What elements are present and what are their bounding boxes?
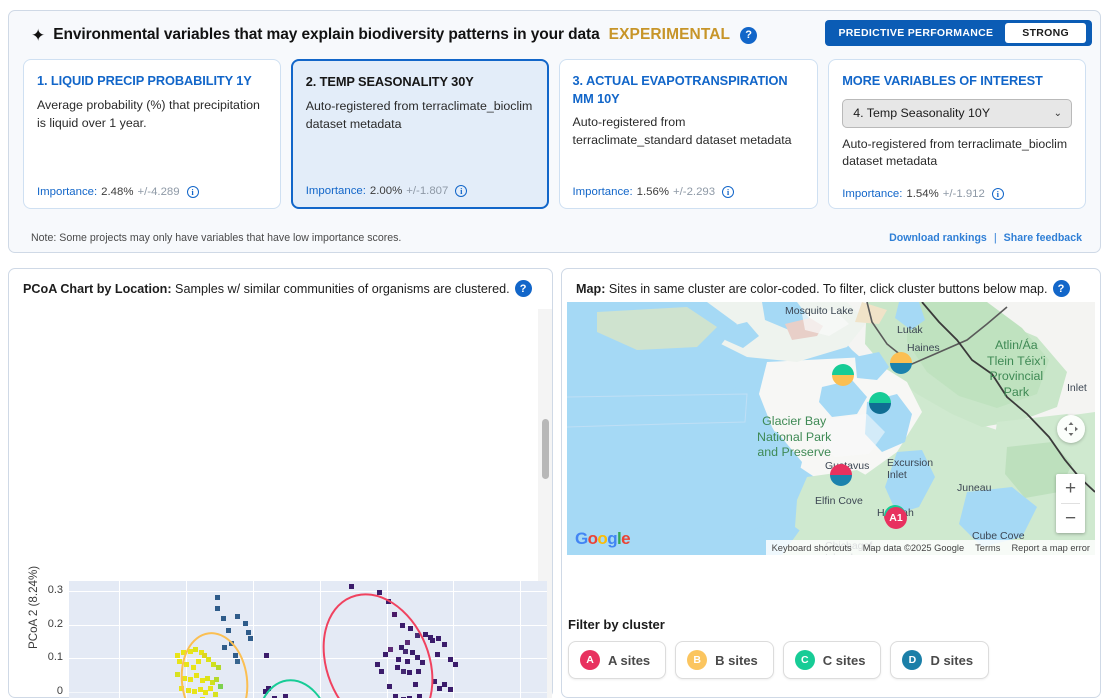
chevron-down-icon: ⌄ <box>1054 108 1062 119</box>
filter-button-d[interactable]: DD sites <box>890 641 989 679</box>
map-site-marker[interactable] <box>830 464 852 486</box>
map-title-bold: Map: <box>576 282 605 296</box>
scrollbar-thumb[interactable] <box>542 419 549 479</box>
filter-by-cluster-title: Filter by cluster <box>568 617 665 632</box>
gridline-vertical <box>253 581 254 698</box>
panel-footer: Note: Some projects may only have variab… <box>9 224 1100 252</box>
importance-error: +/-2.293 <box>673 186 715 198</box>
map-place-label: ExcursionInlet <box>887 457 933 481</box>
gridline-horizontal <box>69 591 547 592</box>
scatter-point[interactable] <box>435 652 440 657</box>
variable-card-2-title: 2. TEMP SEASONALITY 30Y <box>306 73 534 91</box>
map-help-icon[interactable]: ? <box>1053 280 1070 297</box>
panel-header: ✦ Environmental variables that may expla… <box>9 11 1100 59</box>
app-root: ✦ Environmental variables that may expla… <box>0 0 1109 698</box>
marker-top-half <box>832 364 854 375</box>
filter-button-c[interactable]: CC sites <box>783 641 882 679</box>
cluster-ellipse-c[interactable] <box>249 674 341 698</box>
cluster-filter-buttons: AA sitesBB sitesCC sitesDD sites <box>568 641 989 679</box>
importance-label: Importance: <box>37 186 97 198</box>
bottom-panels: PCoA Chart by Location: Samples w/ simil… <box>8 268 1101 698</box>
variable-card-3-importance: Importance: 1.56% +/-2.293 i <box>573 186 735 198</box>
variable-card-3-title: 3. ACTUAL EVAPOTRANSPIRATION MM 10Y <box>573 72 805 107</box>
filter-button-b[interactable]: BB sites <box>675 641 774 679</box>
google-logo: Google <box>575 529 630 549</box>
scatter-point[interactable] <box>215 606 220 611</box>
scatter-plot-area[interactable]: ABCD <box>69 581 547 698</box>
link-separator: | <box>994 232 997 244</box>
map-place-label: Mosquito Lake <box>785 305 853 317</box>
scatter-point[interactable] <box>175 672 180 677</box>
help-icon[interactable]: ? <box>740 27 757 44</box>
scatter-point[interactable] <box>235 614 240 619</box>
gridline-vertical <box>520 581 521 698</box>
gridline-vertical <box>119 581 120 698</box>
marker-bottom-half <box>832 375 854 386</box>
importance-error: +/-4.289 <box>137 186 179 198</box>
map-place-label: Atlin/ÁaTlein Téix'iProvincialPark <box>987 338 1046 400</box>
gridline-vertical <box>320 581 321 698</box>
scatter-point[interactable] <box>448 687 453 692</box>
variable-card-3-description: Auto-registered from terraclimate_standa… <box>573 114 805 150</box>
gridline-vertical <box>453 581 454 698</box>
variable-card-2-importance: Importance: 2.00% +/-1.807 i <box>306 185 468 197</box>
footer-note: Note: Some projects may only have variab… <box>31 232 401 244</box>
environmental-variables-panel: ✦ Environmental variables that may expla… <box>8 10 1101 253</box>
map-place-label: Lutak <box>897 324 923 336</box>
map-place-label: Juneau <box>957 482 991 494</box>
zoom-in-button[interactable]: + <box>1056 474 1085 503</box>
scatter-point[interactable] <box>442 682 447 687</box>
pcoa-panel: PCoA Chart by Location: Samples w/ simil… <box>8 268 553 698</box>
more-variables-description: Auto-registered from terraclimate_biocli… <box>842 136 1072 171</box>
gridline-horizontal <box>69 625 547 626</box>
scatter-point[interactable] <box>175 653 180 658</box>
importance-error: +/-1.807 <box>406 185 448 197</box>
more-variables-title: MORE VARIABLES OF INTEREST <box>842 72 1072 90</box>
y-axis-tick: 0.1 <box>23 651 63 663</box>
variable-card-1-importance: Importance: 2.48% +/-4.289 i <box>37 186 199 198</box>
variable-card-1-description: Average probability (%) that precipitati… <box>37 97 267 133</box>
map-site-marker[interactable] <box>890 352 912 374</box>
info-icon[interactable]: i <box>722 186 734 198</box>
google-map[interactable]: Mosquito LakeLutakHainesAtlin/ÁaTlein Té… <box>567 302 1095 555</box>
scatter-point[interactable] <box>221 616 226 621</box>
marker-bottom-half <box>869 403 891 414</box>
map-site-marker[interactable] <box>832 364 854 386</box>
marker-bottom-half <box>830 475 852 486</box>
map-pan-control[interactable] <box>1057 415 1085 443</box>
importance-value: 2.48% <box>101 186 133 198</box>
filter-dot-b: B <box>687 650 707 670</box>
more-variables-card: MORE VARIABLES OF INTEREST 4. Temp Seaso… <box>828 59 1086 209</box>
pcoa-title: PCoA Chart by Location: Samples w/ simil… <box>23 282 510 296</box>
performance-label: PREDICTIVE PERFORMANCE <box>839 27 994 39</box>
variable-select-value: 4. Temp Seasonality 10Y <box>853 106 990 120</box>
pcoa-header: PCoA Chart by Location: Samples w/ simil… <box>9 269 552 303</box>
keyboard-shortcuts-link[interactable]: Keyboard shortcuts <box>772 543 852 553</box>
performance-value: STRONG <box>1005 23 1086 43</box>
page-title: Environmental variables that may explain… <box>53 26 599 44</box>
info-icon[interactable]: i <box>455 185 467 197</box>
marker-top-half <box>890 352 912 363</box>
variable-card-2[interactable]: 2. TEMP SEASONALITY 30Y Auto-registered … <box>291 59 549 209</box>
y-axis-tick: 0 <box>23 685 63 697</box>
filter-dot-d: D <box>902 650 922 670</box>
scatter-point[interactable] <box>448 657 453 662</box>
map-attribution: Keyboard shortcuts Map data ©2025 Google… <box>766 540 1095 555</box>
map-title: Map: Sites in same cluster are color-cod… <box>576 282 1048 296</box>
scatter-point[interactable] <box>349 584 354 589</box>
pcoa-help-icon[interactable]: ? <box>515 280 532 297</box>
map-header: Map: Sites in same cluster are color-cod… <box>562 269 1100 303</box>
variable-select[interactable]: 4. Temp Seasonality 10Y ⌄ <box>842 99 1072 128</box>
scatter-point[interactable] <box>215 595 220 600</box>
map-title-rest: Sites in same cluster are color-coded. T… <box>605 282 1047 296</box>
pcoa-title-rest: Samples w/ similar communities of organi… <box>172 282 510 296</box>
importance-label: Importance: <box>573 186 633 198</box>
pan-arrows-icon <box>1063 421 1079 437</box>
importance-value: 1.56% <box>637 186 669 198</box>
map-data-text: Map data ©2025 Google <box>863 543 964 553</box>
map-site-marker[interactable] <box>869 392 891 414</box>
filter-button-label: B sites <box>715 653 758 668</box>
map-cluster-badge[interactable]: A1 <box>885 507 907 529</box>
y-axis-label: PCoA 2 (8.24%) <box>27 566 40 649</box>
download-rankings-link[interactable]: Download rankings <box>889 232 987 244</box>
cluster-ellipse-b[interactable] <box>175 628 253 698</box>
scatter-point[interactable] <box>453 662 458 667</box>
variable-card-3[interactable]: 3. ACTUAL EVAPOTRANSPIRATION MM 10Y Auto… <box>559 59 819 209</box>
map-panel: Map: Sites in same cluster are color-cod… <box>561 268 1101 698</box>
variable-card-2-description: Auto-registered from terraclimate_biocli… <box>306 98 534 134</box>
y-axis-tick: 0.3 <box>23 584 63 596</box>
variable-card-1[interactable]: 1. LIQUID PRECIP PROBABILITY 1Y Average … <box>23 59 281 209</box>
filter-button-a[interactable]: AA sites <box>568 641 666 679</box>
scatter-point[interactable] <box>436 636 441 641</box>
scatter-point[interactable] <box>246 630 251 635</box>
scatter-point[interactable] <box>264 653 269 658</box>
scatter-point[interactable] <box>430 638 435 643</box>
y-axis-tick: 0.2 <box>23 618 63 630</box>
variable-card-1-title: 1. LIQUID PRECIP PROBABILITY 1Y <box>37 72 267 90</box>
filter-dot-c: C <box>795 650 815 670</box>
filter-dot-a: A <box>580 650 600 670</box>
map-place-label: Glacier BayNational Parkand Preserve <box>757 414 831 461</box>
report-error-link[interactable]: Report a map error <box>1011 543 1090 553</box>
more-variables-importance: Importance: 1.54% +/-1.912 i <box>842 188 1004 200</box>
importance-label: Importance: <box>306 185 366 197</box>
marker-bottom-half <box>890 363 912 374</box>
marker-top-half <box>830 464 852 475</box>
filter-button-label: D sites <box>930 653 973 668</box>
filter-button-label: C sites <box>823 653 866 668</box>
pcoa-title-bold: PCoA Chart by Location: <box>23 282 172 296</box>
variable-cards: 1. LIQUID PRECIP PROBABILITY 1Y Average … <box>9 59 1100 209</box>
map-zoom-controls[interactable]: + − <box>1056 474 1085 533</box>
importance-label: Importance: <box>842 188 902 200</box>
info-icon[interactable]: i <box>992 188 1004 200</box>
importance-error: +/-1.912 <box>943 188 985 200</box>
scatter-point[interactable] <box>243 621 248 626</box>
importance-value: 1.54% <box>906 188 938 200</box>
map-place-label: Inlet <box>1067 382 1087 394</box>
map-place-label: Elfin Cove <box>815 495 863 507</box>
predictive-performance-badge: PREDICTIVE PERFORMANCE STRONG <box>825 20 1093 46</box>
footer-links: Download rankings | Share feedback <box>889 232 1082 244</box>
marker-top-half <box>869 392 891 403</box>
zoom-out-button[interactable]: − <box>1056 504 1085 533</box>
scatter-point[interactable] <box>248 636 253 641</box>
experimental-badge: EXPERIMENTAL <box>609 26 730 44</box>
scatter-point[interactable] <box>226 628 231 633</box>
share-feedback-link[interactable]: Share feedback <box>1004 232 1082 244</box>
scatter-point[interactable] <box>442 642 447 647</box>
terms-link[interactable]: Terms <box>975 543 1000 553</box>
info-icon[interactable]: i <box>187 186 199 198</box>
filter-button-label: A sites <box>608 653 650 668</box>
sparkle-icon: ✦ <box>31 27 45 44</box>
gridline-horizontal <box>69 658 547 659</box>
importance-value: 2.00% <box>370 185 402 197</box>
